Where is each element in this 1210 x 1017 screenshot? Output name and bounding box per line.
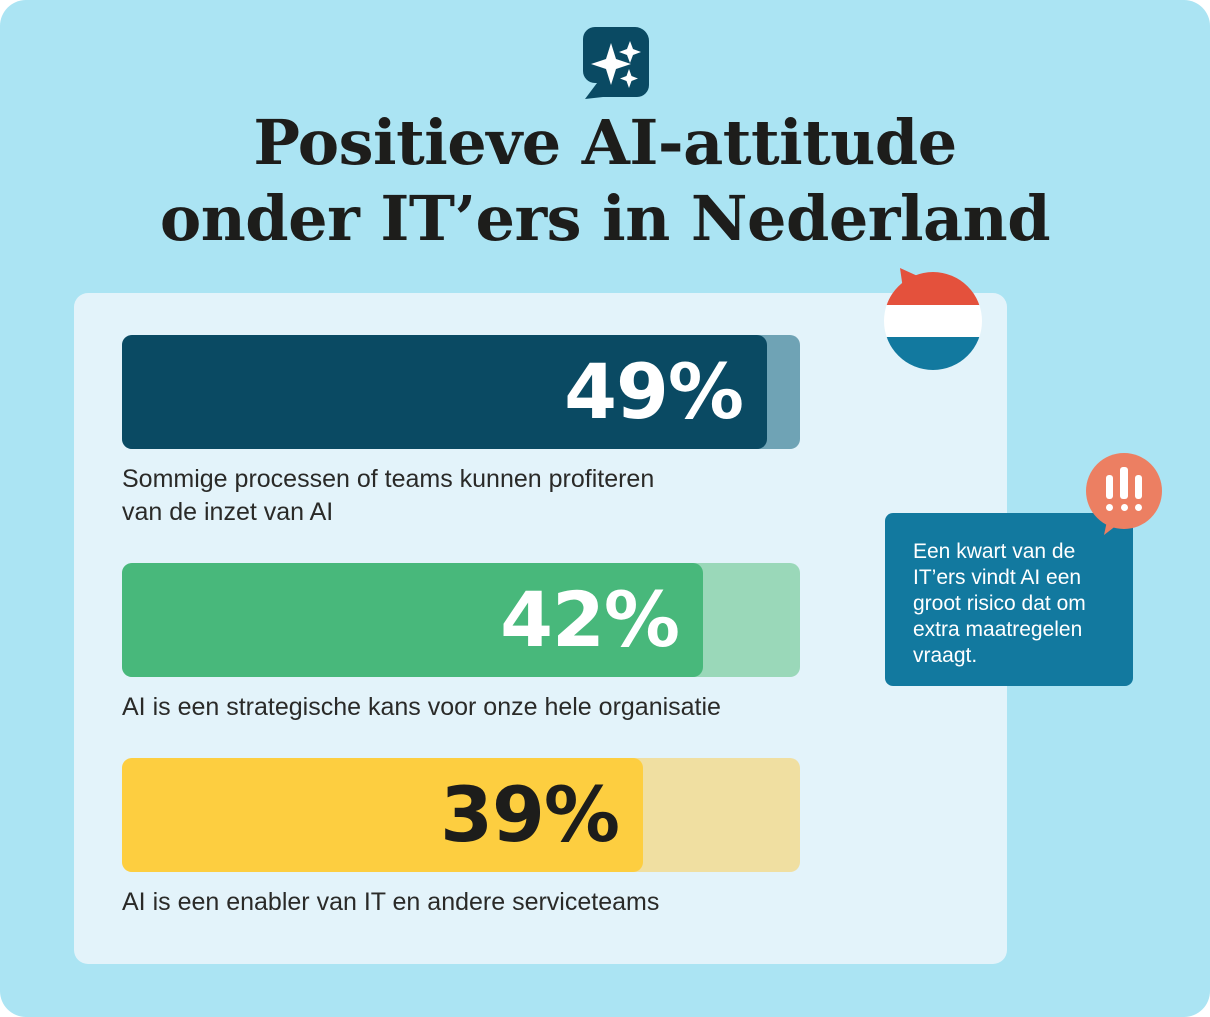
bar-value-2: 42%: [500, 582, 679, 658]
bar-track-2: 42%: [122, 563, 800, 677]
alert-exclamation-bubble-icon: [1086, 453, 1168, 541]
bar-row-3: 39% AI is een enabler van IT en andere s…: [122, 758, 802, 919]
bar-fill-1: 49%: [122, 335, 767, 449]
alert-circle: [1086, 453, 1162, 529]
exclamation-mark-right: [1135, 475, 1142, 511]
bar-label-3: AI is een enabler van IT en andere servi…: [122, 886, 802, 919]
risk-callout-text: Een kwart van de IT’ers vindt AI een gro…: [913, 539, 1109, 669]
bar-track-1: 49%: [122, 335, 800, 449]
flag-stripe-white: [884, 305, 982, 338]
page-title: Positieve AI-attitude onder IT’ers in Ne…: [0, 105, 1210, 257]
bar-fill-2: 42%: [122, 563, 703, 677]
bar-label-1: Sommige processen of teams kunnen profit…: [122, 463, 802, 529]
exclamation-mark-left: [1106, 475, 1113, 511]
bar-row-1: 49% Sommige processen of teams kunnen pr…: [122, 335, 802, 529]
bar-value-3: 39%: [440, 777, 619, 853]
exclamation-marks: [1106, 467, 1142, 511]
bar-label-2: AI is een strategische kans voor onze he…: [122, 691, 802, 724]
bar-track-3: 39%: [122, 758, 800, 872]
bar-row-2: 42% AI is een strategische kans voor onz…: [122, 563, 802, 724]
infographic-canvas: Positieve AI-attitude onder IT’ers in Ne…: [0, 0, 1210, 1017]
bar-fill-3: 39%: [122, 758, 643, 872]
exclamation-mark-middle: [1120, 467, 1128, 511]
netherlands-flag-circle-icon: [878, 262, 986, 370]
sparkle-speech-bubble-icon: [583, 27, 649, 99]
bar-value-1: 49%: [564, 354, 743, 430]
flag-circle: [884, 272, 982, 370]
stats-card: 49% Sommige processen of teams kunnen pr…: [74, 293, 1007, 964]
bar-chart: 49% Sommige processen of teams kunnen pr…: [122, 335, 802, 941]
